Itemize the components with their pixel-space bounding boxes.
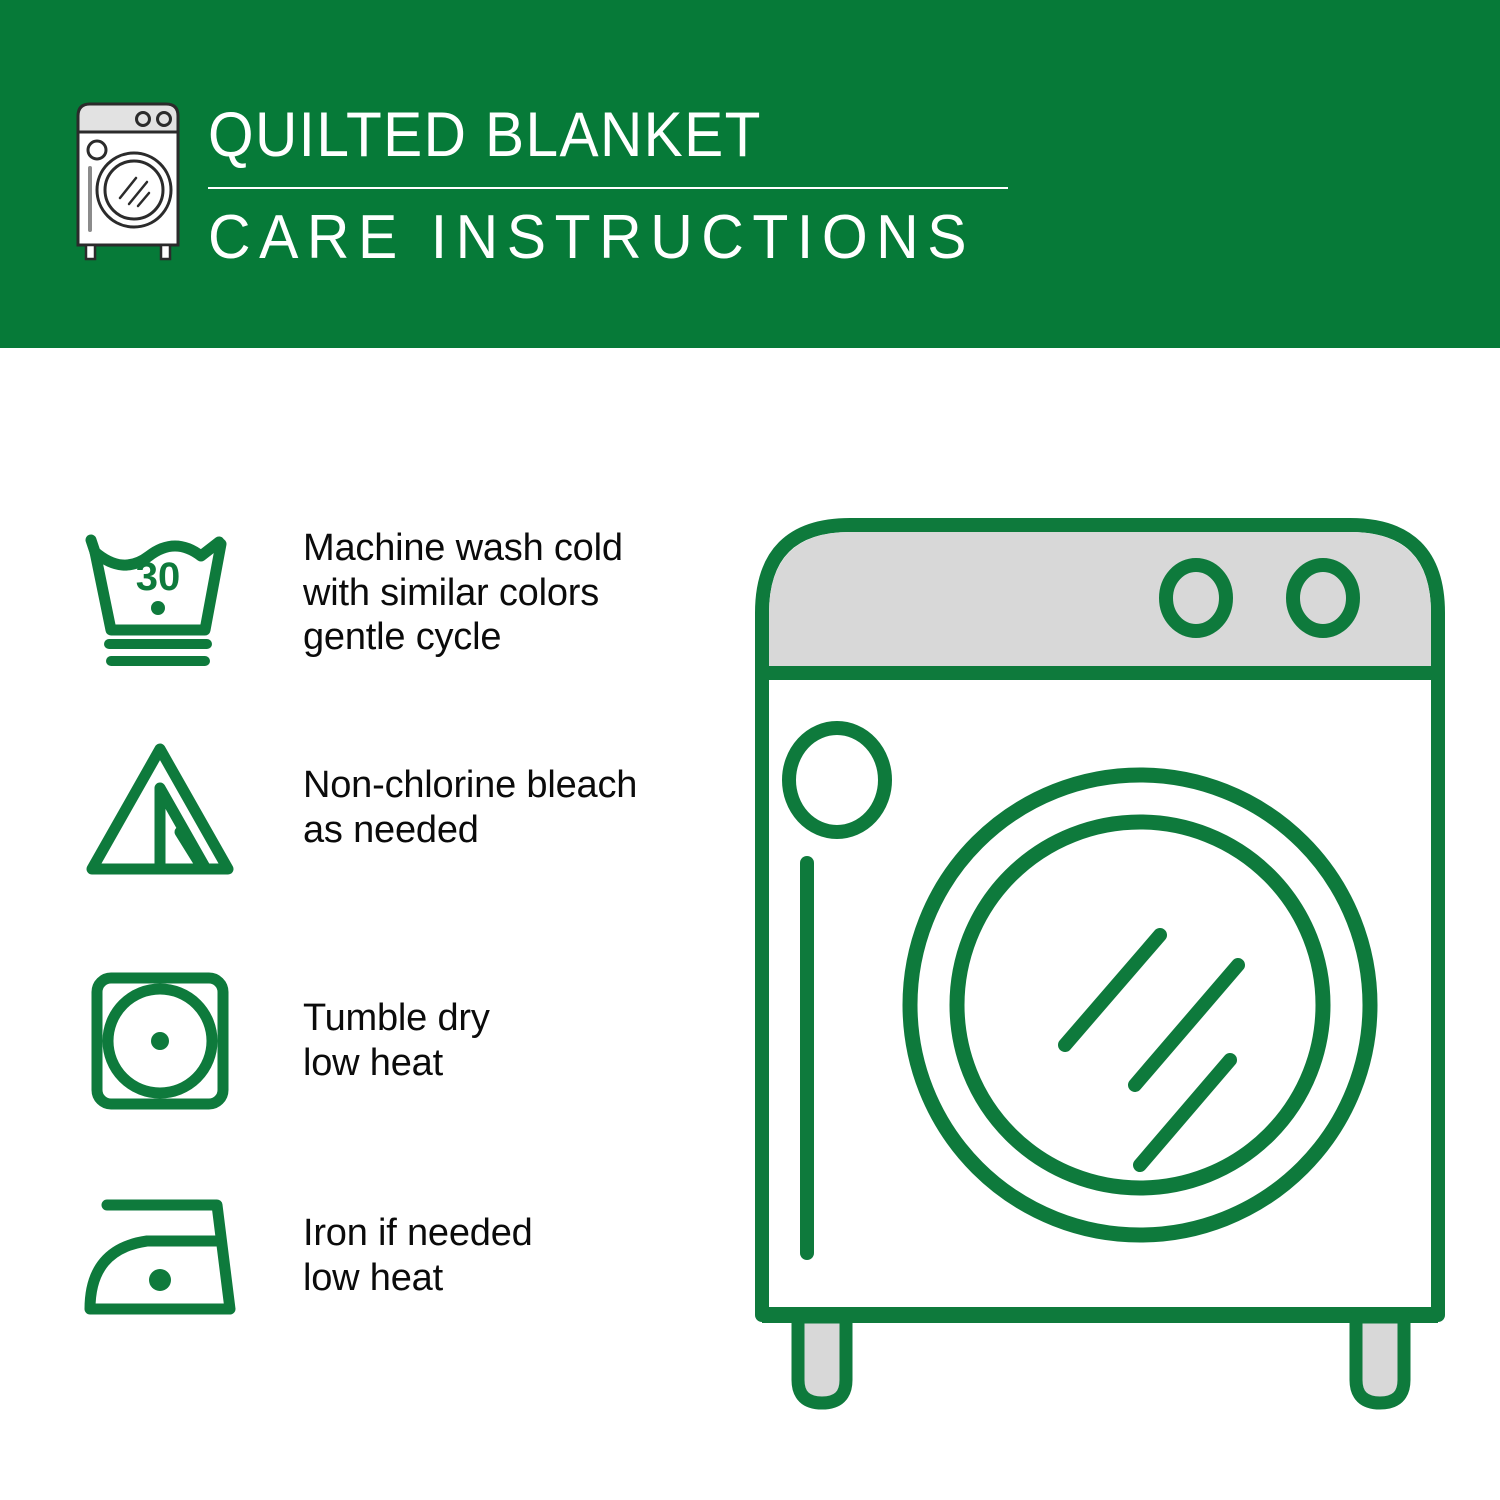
leg-right [1356,1317,1404,1403]
care-label-line: gentle cycle [303,615,623,660]
wash-tub-30-gentle-icon: 30 [72,518,247,668]
care-label: Machine wash cold with similar colors ge… [303,526,623,660]
page-title: QUILTED BLANKET [208,104,959,167]
care-label: Non-chlorine bleach as needed [303,763,637,853]
care-label-line: with similar colors [303,571,623,616]
page-subtitle: CARE INSTRUCTIONS [208,207,975,269]
title-block: QUILTED BLANKET CARE INSTRUCTIONS [208,98,1015,269]
header-content: QUILTED BLANKET CARE INSTRUCTIONS [64,98,1015,269]
care-label-line: as needed [303,808,637,853]
control-panel [769,532,1431,673]
care-row: Iron if needed low heat [72,1178,712,1333]
care-label: Iron if needed low heat [303,1211,533,1301]
care-label-line: Machine wash cold [303,526,623,571]
care-label-line: low heat [303,1256,533,1301]
wash-temperature-value: 30 [135,555,180,599]
header-band: QUILTED BLANKET CARE INSTRUCTIONS [0,0,1500,348]
iron-low-heat-icon [72,1181,247,1331]
care-row: 30 Machine wash cold with similar colors… [72,508,712,678]
non-chlorine-bleach-triangle-icon [72,733,247,883]
care-label-line: low heat [303,1041,490,1086]
care-label-line: Non-chlorine bleach [303,763,637,808]
title-divider [208,187,1008,189]
care-label-line: Tumble dry [303,996,490,1041]
front-load-washing-machine-illustration [740,495,1460,1425]
leg-left [798,1317,846,1403]
care-label: Tumble dry low heat [303,996,490,1086]
care-row: Non-chlorine bleach as needed [72,723,712,893]
care-label-line: Iron if needed [303,1211,533,1256]
washing-machine-logo-icon [64,98,192,263]
tumble-dry-low-heat-icon [72,966,247,1116]
care-row: Tumble dry low heat [72,963,712,1118]
